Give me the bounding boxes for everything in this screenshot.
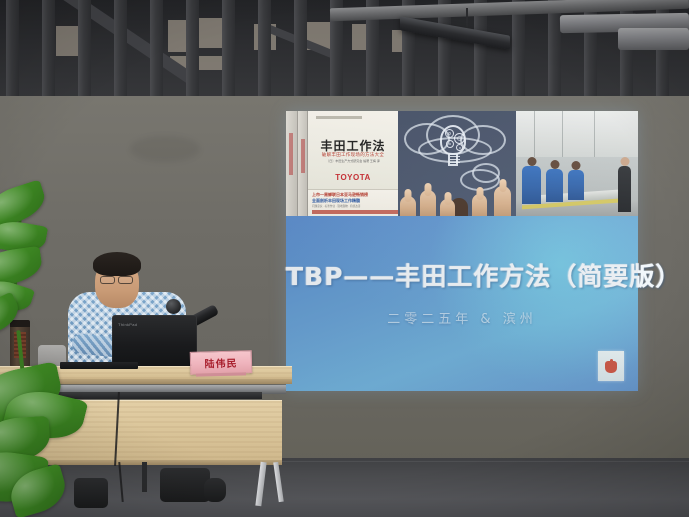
ceiling-slat xyxy=(6,0,19,104)
nameplate-text: 陆伟民 xyxy=(204,355,237,371)
microphone-head xyxy=(166,299,181,314)
lightbulb-base-icon xyxy=(448,154,458,166)
ceiling-slat xyxy=(222,0,235,104)
book-band-rule xyxy=(312,210,398,214)
presenter-glasses xyxy=(100,276,115,284)
book-top-rule xyxy=(316,116,362,119)
book-spine xyxy=(286,111,298,216)
book-band-line-3: 问题意识 · 标准作业 · 现地现物 · 持续改善 xyxy=(312,205,360,209)
slide-title: TBP——丰田工作方法（简要版） xyxy=(286,257,638,293)
worker-head xyxy=(550,160,559,169)
presenter-hair xyxy=(93,252,141,276)
ceiling-slat xyxy=(512,0,525,104)
ceiling-slat xyxy=(78,0,91,104)
ceiling-window xyxy=(168,20,186,52)
factory-panel-line xyxy=(562,111,563,157)
bag-under-table xyxy=(74,478,108,508)
thought-cloud-small xyxy=(472,163,500,183)
light-suspension-rod xyxy=(466,8,468,28)
worker-head xyxy=(572,161,581,170)
ceiling-slat xyxy=(42,0,55,104)
gear-icon xyxy=(456,144,463,151)
ceiling-slat xyxy=(258,0,271,104)
slide-image-idea-lightbulb xyxy=(398,111,516,216)
gear-icon xyxy=(454,133,465,144)
slide-image-strip: 丰田工作法 破解丰田工作现场的方法大全 〔日〕丰田生产方式研究会 编著 王梅 译… xyxy=(286,111,638,216)
book-byline: 〔日〕丰田生产方式研究会 编著 王梅 译 xyxy=(308,159,398,163)
corporate-logo-icon xyxy=(604,359,618,374)
supervisor-in-dark-uniform xyxy=(618,166,631,212)
thumbs-up-hand xyxy=(440,199,455,216)
presenter-glasses xyxy=(118,276,133,284)
laptop-brand-logo: ThinkPad xyxy=(118,322,137,327)
thermos-lid xyxy=(10,320,30,327)
worker-in-blue xyxy=(522,166,541,204)
book-front-cover: 丰田工作法 破解丰田工作现场的方法大全 〔日〕丰田生产方式研究会 编著 王梅 译… xyxy=(308,111,398,216)
book-obi-band: 上市一周蝉联日本亚马逊畅销榜 全面剖析丰田现场工作精髓 问题意识 · 标准作业 … xyxy=(308,189,398,216)
factory-panel-line xyxy=(594,111,595,157)
book-publisher-line xyxy=(308,184,398,188)
worker-in-blue xyxy=(568,170,584,200)
slide-subtitle: 二零二五年 & 滨州 xyxy=(286,308,638,327)
presentation-room-photo: 丰田工作法 破解丰田工作现场的方法大全 〔日〕丰田生产方式研究会 编著 王梅 译… xyxy=(0,0,689,517)
thumbs-up-hand xyxy=(400,196,416,216)
ceiling-slat xyxy=(294,0,307,104)
thumbs-up-hand xyxy=(494,186,511,216)
ceiling-slat xyxy=(150,0,163,104)
factory-panel-line xyxy=(534,111,535,157)
toyota-brand-text: TOYOTA xyxy=(308,173,398,182)
thumbs-up-hand xyxy=(472,194,487,216)
laptop-base xyxy=(60,362,138,369)
nameplate-card: 陆伟民 xyxy=(190,350,253,375)
ceiling xyxy=(0,0,689,104)
gear-icon xyxy=(446,140,454,148)
slide-image-book-cover: 丰田工作法 破解丰田工作现场的方法大全 〔日〕丰田生产方式研究会 编著 王梅 译… xyxy=(286,111,398,216)
supervisor-head xyxy=(620,157,629,166)
bag-under-table xyxy=(160,468,210,502)
ceiling-slat xyxy=(548,0,561,104)
bag-under-table xyxy=(204,478,226,502)
table-leg-dark xyxy=(142,462,147,492)
wall-smudge xyxy=(130,136,200,162)
ceiling-slat xyxy=(186,0,199,104)
ceiling-slat xyxy=(114,0,127,104)
thumbs-up-hand xyxy=(420,190,436,216)
worker-head xyxy=(527,157,536,166)
book-band-line-2: 全面剖析丰田现场工作精髓 xyxy=(312,198,360,204)
gear-icon xyxy=(445,129,454,138)
book-subtitle: 破解丰田工作现场的方法大全 xyxy=(308,152,398,158)
ceiling-duct-round xyxy=(618,28,689,50)
book-spine xyxy=(298,111,308,216)
slide-image-factory-training xyxy=(516,111,638,216)
worker-in-blue xyxy=(546,169,563,202)
slide-corner-logo xyxy=(598,351,624,381)
projected-slide: 丰田工作法 破解丰田工作现场的方法大全 〔日〕丰田生产方式研究会 编著 王梅 译… xyxy=(286,111,638,391)
